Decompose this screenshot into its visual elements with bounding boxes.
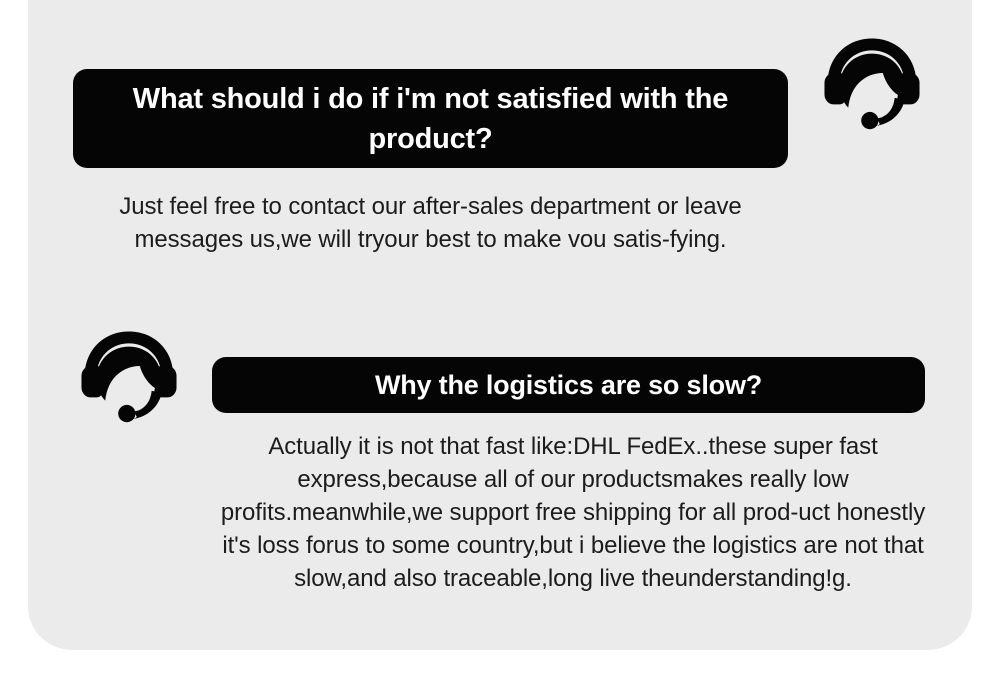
headset-agent-icon (75, 325, 183, 433)
faq-panel: What should i do if i'm not satisfied wi… (28, 0, 972, 650)
faq-answer-text-1: Just feel free to contact our after-sale… (73, 190, 788, 256)
faq-question-bar-1: What should i do if i'm not satisfied wi… (73, 69, 788, 168)
faq-answer-text-2: Actually it is not that fast like:DHL Fe… (218, 430, 928, 595)
faq-question-text-1: What should i do if i'm not satisfied wi… (91, 79, 770, 159)
faq-question-bar-2: Why the logistics are so slow? (212, 357, 925, 413)
headset-agent-icon (818, 32, 926, 140)
faq-question-text-2: Why the logistics are so slow? (375, 368, 762, 402)
